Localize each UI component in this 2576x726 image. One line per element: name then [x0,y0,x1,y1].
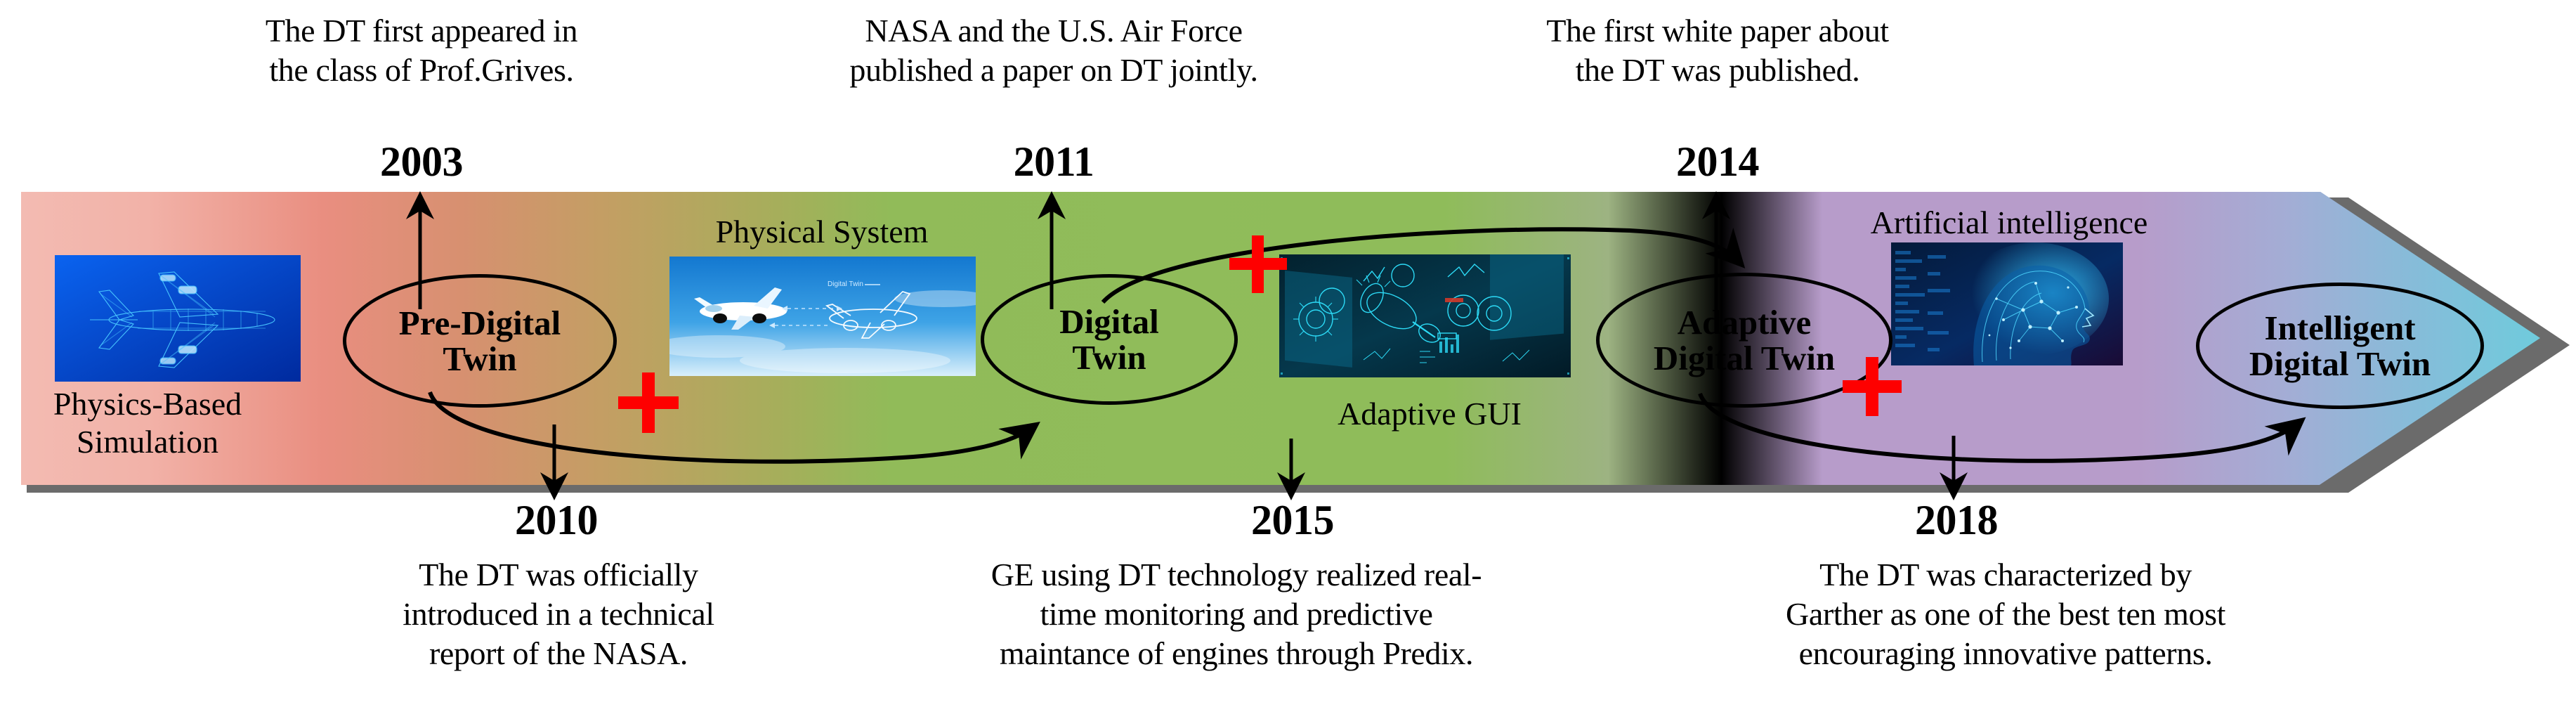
year-label-2014: 2014 [1605,138,1830,186]
note-line1: NASA and the U.S. Air Force [766,11,1342,51]
plus-icon-2 [1229,235,1287,293]
year-label-2003: 2003 [309,138,534,186]
bottom-note-2015: GE using DT technology realized real- ti… [854,555,1619,673]
year-label-2010: 2010 [444,496,669,545]
stage-label-line2: Digital Twin [2249,346,2431,382]
caption-physics-based-simulation: Physics-Based Simulation [21,385,274,462]
note-line2: Garther as one of the best ten most [1637,595,2374,634]
note-line1: The DT first appeared in [162,11,681,51]
plus-icon-1 [618,372,679,433]
stage-ellipse-intelligent-digital-twin[interactable]: Intelligent Digital Twin [2196,283,2484,409]
top-note-2003: The DT first appeared in the class of Pr… [162,11,681,90]
year-label-2018: 2018 [1844,496,2069,545]
stage-ellipse-digital-twin[interactable]: Digital Twin [981,274,1238,405]
note-line3: maintance of engines through Predix. [854,634,1619,673]
note-line1: The DT was officially [281,555,836,595]
note-line3: encouraging innovative patterns. [1637,634,2374,673]
year-label-2015: 2015 [1180,496,1405,545]
caption-physical-system: Physical System [667,213,976,250]
caption-line2: Simulation [21,423,274,461]
stage-label-line2: Twin [399,341,561,377]
note-line2: the class of Prof.Grives. [162,51,681,90]
bottom-note-2010: The DT was officially introduced in a te… [281,555,836,673]
note-line3: report of the NASA. [281,634,836,673]
stage-label-line1: Pre-Digital [399,305,561,341]
stage-label-line1: Adaptive [1654,304,1835,340]
stage-ellipse-pre-digital-twin[interactable]: Pre-Digital Twin [343,274,617,408]
timeline-diagram: Digital Twin [0,0,2576,726]
stage-label-line2: Digital Twin [1654,340,1835,376]
stage-label-line2: Twin [1059,339,1159,375]
note-line2: time monitoring and predictive [854,595,1619,634]
stage-label-line1: Intelligent [2249,310,2431,346]
note-line2: introduced in a technical [281,595,836,634]
note-line2: the DT was published. [1447,51,1988,90]
caption-line1: Physical System [667,213,976,250]
plus-icon-3 [1843,357,1902,416]
caption-line1: Physics-Based [21,385,274,423]
year-label-2011: 2011 [941,138,1166,186]
bottom-note-2018: The DT was characterized by Garther as o… [1637,555,2374,673]
caption-line1: Adaptive GUI [1293,395,1567,432]
note-line1: The first white paper about [1447,11,1988,51]
note-line1: The DT was characterized by [1637,555,2374,595]
top-note-2014: The first white paper about the DT was p… [1447,11,1988,90]
caption-line1: Artificial intelligence [1833,204,2185,241]
top-note-2011: NASA and the U.S. Air Force published a … [766,11,1342,90]
note-line1: GE using DT technology realized real- [854,555,1619,595]
caption-adaptive-gui: Adaptive GUI [1293,395,1567,432]
stage-label-line1: Digital [1059,304,1159,339]
caption-artificial-intelligence: Artificial intelligence [1833,204,2185,241]
note-line2: published a paper on DT jointly. [766,51,1342,90]
